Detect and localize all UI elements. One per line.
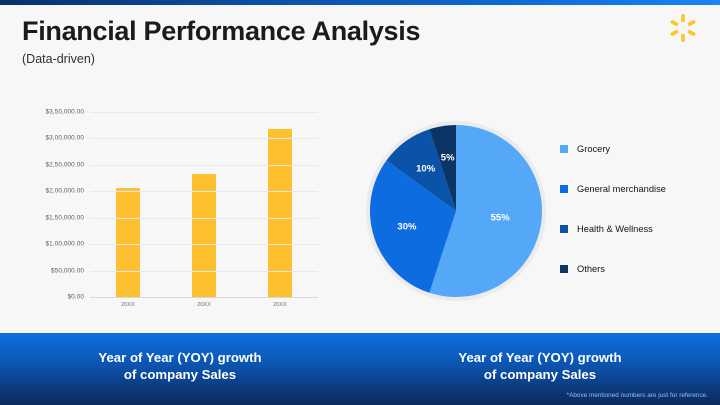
walmart-spark-icon <box>668 13 698 43</box>
page-subtitle: (Data-driven) <box>22 50 420 68</box>
bar <box>192 174 216 297</box>
legend-item[interactable]: Others <box>560 262 710 276</box>
bar-slot <box>242 112 318 297</box>
y-axis-tick-label: $1,50,000.00 <box>45 214 84 221</box>
legend-swatch <box>560 265 568 273</box>
legend-swatch <box>560 185 568 193</box>
y-axis-tick-label: $2,50,000.00 <box>45 161 84 168</box>
gridline <box>90 191 318 192</box>
bar-chart-x-axis: 20XX20XX20XX <box>90 302 318 308</box>
bar-chart-plot-area <box>90 112 318 298</box>
top-accent-bar <box>0 0 720 5</box>
bar-slot <box>90 112 166 297</box>
pie-slice-label: 10% <box>416 164 435 175</box>
legend-label: Health & Wellness <box>577 224 653 234</box>
bar-chart: $3,50,000.00$3,00,000.00$2,50,000.00$2,0… <box>16 112 336 312</box>
header: Financial Performance Analysis (Data-dri… <box>22 14 420 68</box>
gridline <box>90 244 318 245</box>
legend-item[interactable]: Health & Wellness <box>560 222 710 236</box>
legend-label: Others <box>577 264 605 274</box>
page-title: Financial Performance Analysis <box>22 14 420 48</box>
band-left-caption-block: Year of Year (YOY) growth of company Sal… <box>0 333 360 405</box>
x-axis-tick-label: 20XX <box>90 302 166 308</box>
gridline <box>90 218 318 219</box>
x-axis-tick-label: 20XX <box>242 302 318 308</box>
y-axis-tick-label: $0.00 <box>68 294 85 301</box>
pie-slice-label: 30% <box>397 221 416 232</box>
band-left-caption: Year of Year (YOY) growth of company Sal… <box>98 349 261 383</box>
gridline <box>90 271 318 272</box>
legend-label: Grocery <box>577 144 610 154</box>
gridline <box>90 165 318 166</box>
pie-slices <box>370 125 542 297</box>
gridline <box>90 138 318 139</box>
y-axis-tick-label: $50,000.00 <box>51 267 84 274</box>
pie-slice-label: 5% <box>441 153 455 164</box>
gridline <box>90 112 318 113</box>
legend-swatch <box>560 225 568 233</box>
legend-label: General merchandise <box>577 184 666 194</box>
band-left-caption-line2: of company Sales <box>124 367 236 382</box>
band-left-caption-line1: Year of Year (YOY) growth <box>98 350 261 365</box>
bar <box>268 129 292 297</box>
pie-slice-label: 55% <box>491 212 510 223</box>
bottom-band: Year of Year (YOY) growth of company Sal… <box>0 333 720 405</box>
legend-item[interactable]: Grocery <box>560 142 710 156</box>
y-axis-tick-label: $3,00,000.00 <box>45 135 84 142</box>
bar-chart-y-axis: $3,50,000.00$3,00,000.00$2,50,000.00$2,0… <box>16 112 88 298</box>
y-axis-tick-label: $2,00,000.00 <box>45 188 84 195</box>
legend-item[interactable]: General merchandise <box>560 182 710 196</box>
band-right-caption-line2: of company Sales <box>484 367 596 382</box>
legend-swatch <box>560 145 568 153</box>
band-right-caption: Year of Year (YOY) growth of company Sal… <box>458 349 621 383</box>
pie-legend: GroceryGeneral merchandiseHealth & Welln… <box>560 142 710 302</box>
y-axis-tick-label: $3,50,000.00 <box>45 109 84 116</box>
bar-chart-baseline <box>90 297 318 298</box>
bar-series <box>90 112 318 297</box>
x-axis-tick-label: 20XX <box>166 302 242 308</box>
bar-slot <box>166 112 242 297</box>
bar <box>116 188 140 297</box>
band-right-caption-line1: Year of Year (YOY) growth <box>458 350 621 365</box>
footnote: *Above mentioned numbers are just for re… <box>567 392 708 399</box>
pie-chart: 55%30%10%5% <box>366 121 548 303</box>
y-axis-tick-label: $1,00,000.00 <box>45 241 84 248</box>
